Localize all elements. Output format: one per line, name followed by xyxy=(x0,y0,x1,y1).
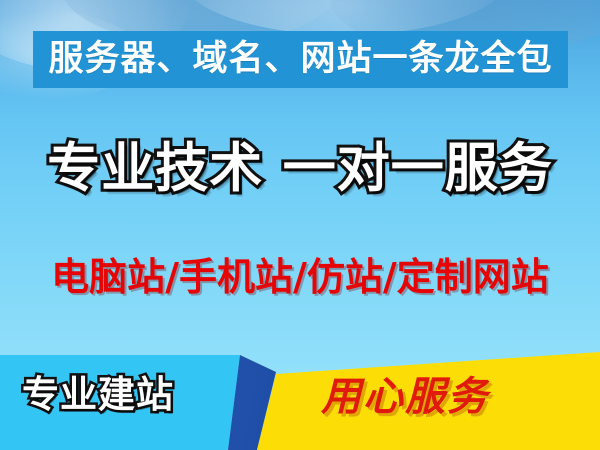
headline-block: 专业技术 一对一服务 xyxy=(0,142,600,195)
right-panel-label: 用心服务 xyxy=(321,377,489,417)
cloud-shape xyxy=(180,0,510,35)
services-block: 电脑站/手机站/仿站/定制网站 xyxy=(0,258,600,296)
left-panel-label: 专业建站 xyxy=(22,376,174,413)
ribbon-label: 服务器、域名、网站一条龙全包 xyxy=(48,42,552,77)
headline-label: 专业技术 一对一服务 xyxy=(47,142,552,195)
top-ribbon-banner: 服务器、域名、网站一条龙全包 xyxy=(33,31,568,88)
bottom-band: 专业建站 用心服务 xyxy=(0,350,600,450)
services-label: 电脑站/手机站/仿站/定制网站 xyxy=(51,258,549,296)
promo-poster: 服务器、域名、网站一条龙全包 专业技术 一对一服务 电脑站/手机站/仿站/定制网… xyxy=(0,0,600,450)
